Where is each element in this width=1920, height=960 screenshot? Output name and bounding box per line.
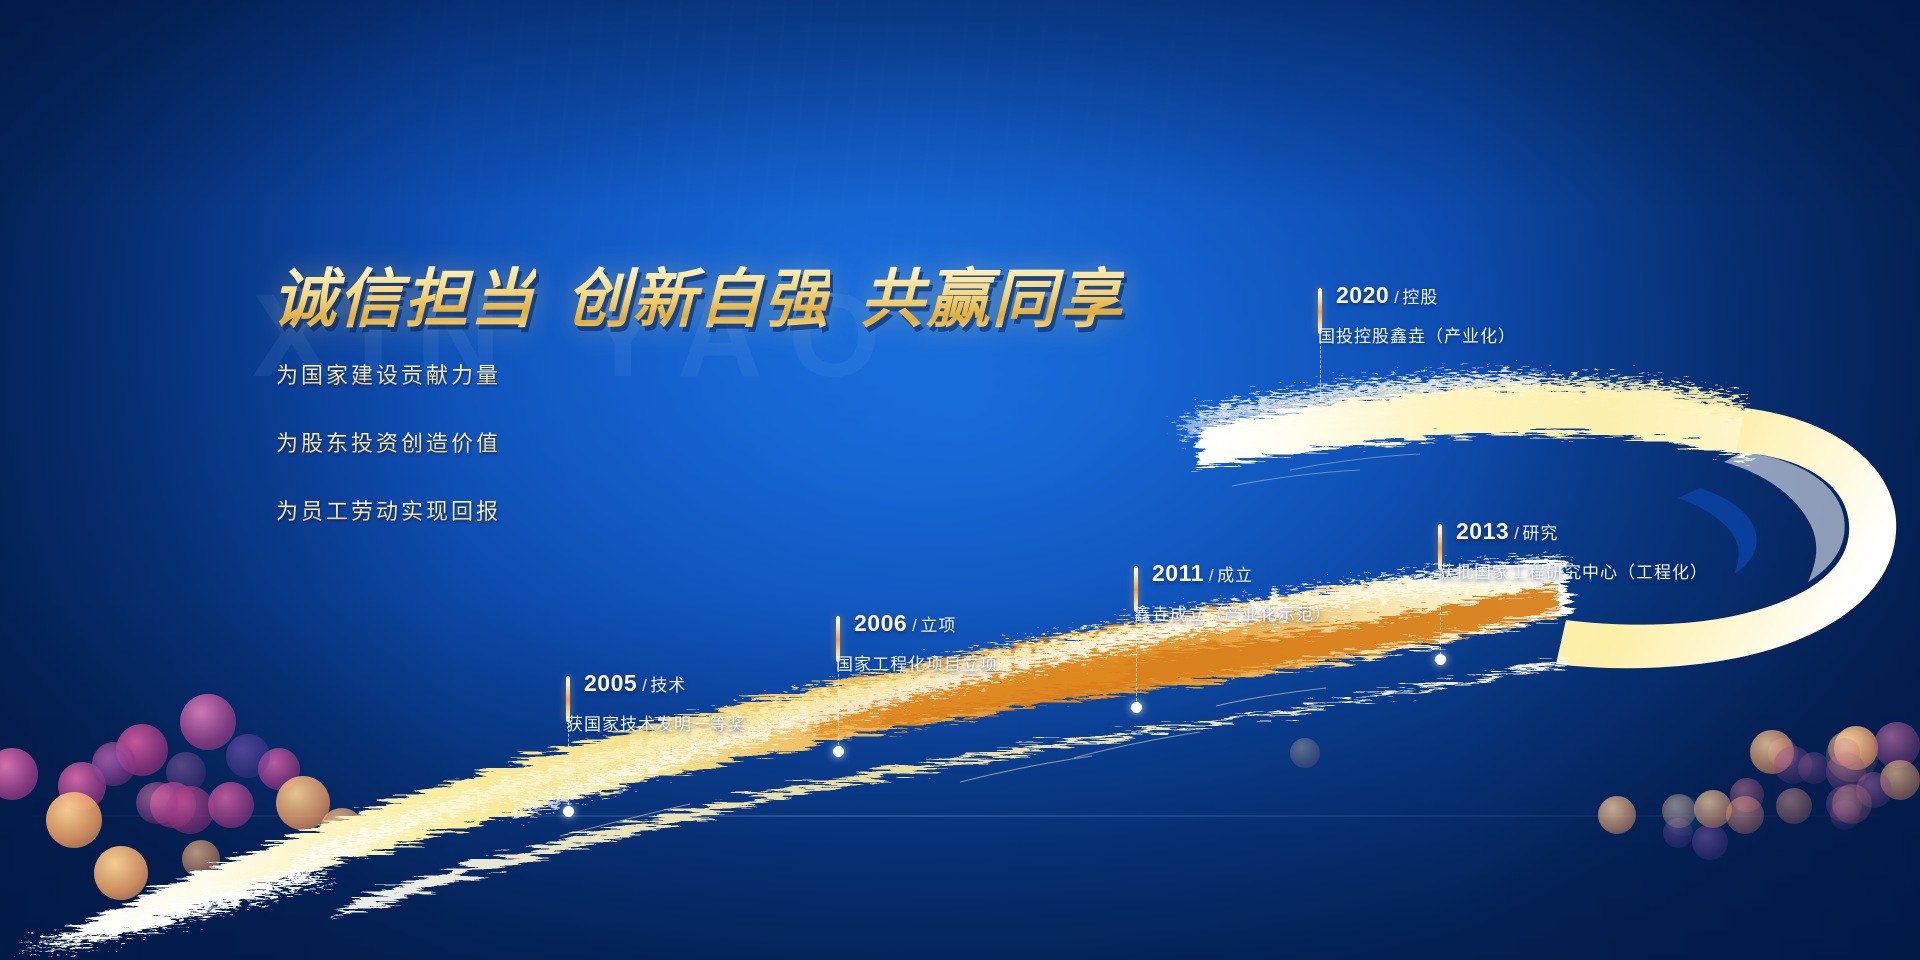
timeline-description: 国投控股鑫垚（产业化）: [1318, 322, 1516, 347]
timeline-year-value: 2011: [1152, 560, 1204, 586]
timeline-year-value: 2013: [1456, 518, 1509, 544]
page-title: 诚信担当创新自强共赢同享: [272, 248, 1124, 340]
timeline-year-value: 2020: [1336, 282, 1389, 308]
timeline-description: 获国家技术发明一等奖: [566, 710, 746, 735]
slogan-line: 为股东投资创造价值: [276, 426, 501, 458]
timeline-tag: 研究: [1522, 524, 1558, 543]
timeline-separator: /: [1514, 524, 1519, 543]
timeline-year: 2005/技术: [584, 670, 686, 697]
timeline-tag: 立项: [920, 616, 956, 635]
timeline-tag: 控股: [1402, 288, 1438, 307]
slogan-line: 为员工劳动实现回报: [276, 494, 501, 526]
timeline-year-value: 2006: [854, 610, 907, 636]
timeline-tag: 成立: [1217, 566, 1253, 585]
timeline-dot[interactable]: [1131, 702, 1142, 713]
timeline-year: 2011/成立: [1152, 560, 1253, 587]
timeline-year-value: 2005: [584, 670, 637, 696]
timeline-separator: /: [912, 616, 917, 635]
timeline-description: 获批国家工程研究中心（工程化）: [1438, 558, 1708, 583]
slogan-list: 为国家建设贡献力量 为股东投资创造价值 为员工劳动实现回报: [276, 358, 501, 562]
headline-segment: 诚信担当: [272, 248, 536, 340]
background-horizon-band: [0, 815, 1920, 817]
timeline-separator: /: [1209, 566, 1214, 585]
timeline-leader-line: [1320, 336, 1321, 402]
timeline-leader-line: [568, 724, 569, 810]
timeline-description: 鑫垚成立（产业化示范）: [1134, 600, 1332, 625]
timeline-year: 2006/立项: [854, 610, 956, 637]
timeline-dot[interactable]: [833, 746, 844, 757]
timeline-leader-line: [838, 664, 839, 750]
poster-canvas: XIN YAO: [0, 0, 1920, 960]
timeline-separator: /: [642, 676, 647, 695]
timeline-separator: /: [1394, 288, 1399, 307]
headline-segment: 共赢同享: [860, 248, 1124, 340]
timeline-description: 国家工程化项目立项: [836, 650, 998, 675]
timeline-leader-line: [1440, 572, 1441, 660]
timeline-tag: 技术: [650, 676, 686, 695]
timeline-year: 2013/研究: [1456, 518, 1558, 545]
timeline-dot[interactable]: [1435, 654, 1446, 665]
headline-segment: 创新自强: [566, 248, 830, 340]
timeline-leader-line: [1136, 614, 1137, 706]
timeline-dot[interactable]: [563, 806, 574, 817]
timeline-year: 2020/控股: [1336, 282, 1438, 309]
slogan-line: 为国家建设贡献力量: [276, 358, 501, 390]
